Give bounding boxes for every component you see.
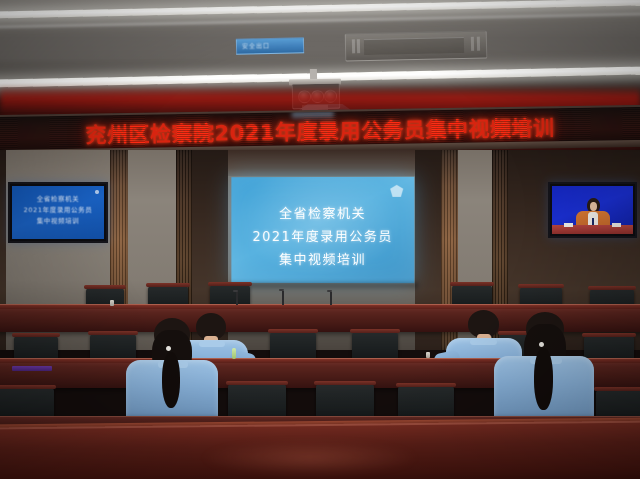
emblem-icon bbox=[390, 185, 403, 197]
ac-grille bbox=[364, 37, 464, 55]
water-cup-2 bbox=[426, 352, 430, 358]
exit-sign-label: 安全出口 bbox=[242, 41, 270, 51]
right-monitor-screen bbox=[552, 186, 633, 234]
attendee-1-ponytail bbox=[162, 352, 180, 408]
attendee-3-collar bbox=[470, 339, 497, 345]
microphone-1-head bbox=[233, 290, 238, 292]
microphone-3 bbox=[330, 292, 332, 305]
presiding-desk-top bbox=[0, 304, 640, 309]
microphone-2-head bbox=[279, 289, 284, 291]
left-wall-monitor: 全省检察机关 2021年度录用公务员 集中视频培训 bbox=[8, 182, 108, 243]
attendee-4-hair-tie bbox=[539, 342, 544, 347]
projection-screen-text: 全省检察机关 2021年度录用公务员 集中视频培训 bbox=[231, 203, 414, 272]
speaker-document-left bbox=[564, 223, 573, 227]
attendee-4-ponytail bbox=[534, 348, 553, 410]
speaker-document-right bbox=[612, 223, 621, 227]
microphone-1 bbox=[236, 292, 238, 305]
attendee-1-hair-tie bbox=[166, 346, 171, 351]
left-monitor-line-3: 集中视频培训 bbox=[12, 216, 104, 227]
speaker-face bbox=[590, 202, 597, 211]
water-cup-1 bbox=[110, 300, 114, 306]
beverage-bottle bbox=[232, 348, 236, 359]
left-monitor-text: 全省检察机关 2021年度录用公务员 集中视频培训 bbox=[12, 194, 104, 227]
right-wall-monitor bbox=[548, 182, 637, 238]
projection-line-2: 2021年度录用公务员 bbox=[231, 226, 414, 249]
left-monitor-line-2: 2021年度录用公务员 bbox=[12, 205, 104, 216]
projection-line-1: 全省检察机关 bbox=[231, 203, 414, 226]
microphone-3-head bbox=[327, 290, 332, 292]
left-monitor-line-1: 全省检察机关 bbox=[12, 194, 104, 205]
foreground-desk-reflection bbox=[200, 440, 420, 476]
banner-highlight bbox=[292, 112, 334, 121]
attendee-2-collar bbox=[199, 341, 225, 347]
screen-drop-shadow bbox=[228, 283, 418, 291]
conference-room-photo: 安全出口 兖州区检察院2021年度录用公务员集中视频培训 全省检察机关 2021… bbox=[0, 0, 640, 479]
nameplate-1 bbox=[12, 366, 52, 371]
projection-screen: 全省检察机关 2021年度录用公务员 集中视频培训 bbox=[231, 177, 414, 283]
projection-line-3: 集中视频培训 bbox=[231, 249, 414, 272]
speaker-microphone-icon bbox=[592, 218, 594, 225]
microphone-2 bbox=[282, 291, 284, 305]
ac-vent-icon bbox=[345, 31, 488, 62]
left-monitor-screen: 全省检察机关 2021年度录用公务员 集中视频培训 bbox=[12, 186, 104, 239]
exit-sign: 安全出口 bbox=[236, 37, 304, 54]
